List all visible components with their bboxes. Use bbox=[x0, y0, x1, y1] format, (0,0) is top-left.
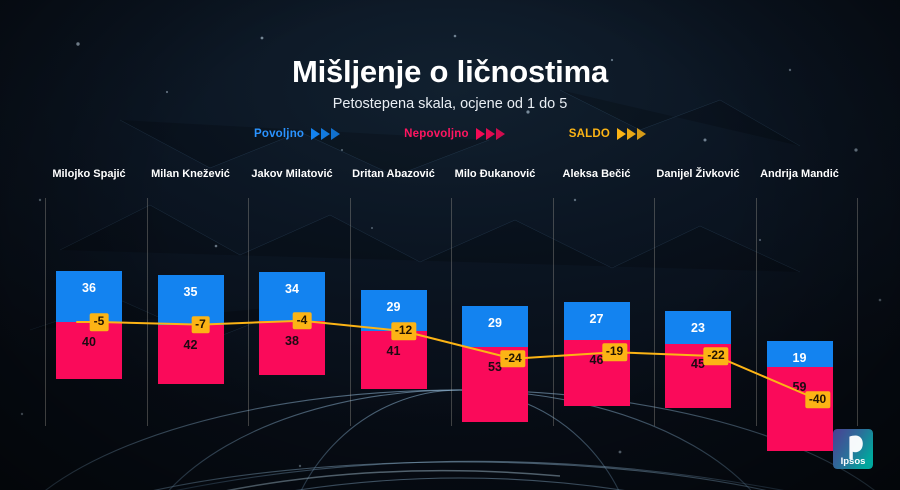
chart-category-label: Jakov Milatović bbox=[251, 168, 332, 180]
bar-segment-unfavourable: 42 bbox=[158, 325, 224, 385]
ipsos-logo-mark: Ipsos bbox=[833, 429, 873, 469]
gridline bbox=[248, 198, 249, 426]
saldo-badge: -40 bbox=[805, 391, 830, 409]
saldo-badge: -12 bbox=[391, 322, 416, 340]
chart-category-label: Andrija Mandić bbox=[760, 168, 839, 180]
bar-value-favourable: 27 bbox=[564, 312, 630, 326]
bar-value-favourable: 19 bbox=[767, 351, 833, 365]
saldo-badge: -4 bbox=[293, 312, 312, 330]
page-title: Mišljenje o ličnostima bbox=[0, 54, 900, 90]
saldo-line-series bbox=[0, 168, 900, 430]
saldo-badge: -22 bbox=[703, 347, 728, 365]
bar-value-favourable: 36 bbox=[56, 281, 122, 295]
bar-value-favourable: 35 bbox=[158, 285, 224, 299]
chart-category-label: Milojko Spajić bbox=[52, 168, 125, 180]
legend-label-povoljno: Povoljno bbox=[254, 128, 304, 140]
bar-value-favourable: 34 bbox=[259, 282, 325, 296]
chart-category-label: Milo Đukanović bbox=[455, 168, 536, 180]
gridline bbox=[857, 198, 858, 426]
bar-value-unfavourable: 38 bbox=[259, 334, 325, 348]
saldo-badge: -19 bbox=[602, 343, 627, 361]
chart-category-label: Milan Knežević bbox=[151, 168, 230, 180]
bar-value-unfavourable: 40 bbox=[56, 335, 122, 349]
gridline bbox=[45, 198, 46, 426]
bar-segment-unfavourable: 59 bbox=[767, 367, 833, 451]
saldo-badge: -5 bbox=[90, 313, 109, 331]
svg-text:Ipsos: Ipsos bbox=[841, 456, 866, 467]
chart-category-label: Aleksa Bečić bbox=[563, 168, 631, 180]
bar-segment-favourable: 27 bbox=[564, 302, 630, 340]
bar-value-unfavourable: 42 bbox=[158, 338, 224, 352]
bar-value-favourable: 29 bbox=[361, 300, 427, 314]
gridline bbox=[147, 198, 148, 426]
gridline bbox=[553, 198, 554, 426]
bar-segment-favourable: 29 bbox=[462, 306, 528, 347]
chart-category-label: Danijel Živković bbox=[656, 168, 739, 180]
triple-arrow-right-icon bbox=[617, 128, 646, 140]
gridline bbox=[756, 198, 757, 426]
page-subtitle: Petostepena skala, ocjene od 1 do 5 bbox=[0, 96, 900, 112]
infographic-canvas: Mišljenje o ličnostima Petostepena skala… bbox=[0, 0, 900, 490]
chart-category-label: Dritan Abazović bbox=[352, 168, 435, 180]
saldo-badge: -7 bbox=[191, 316, 210, 334]
legend-item-saldo: SALDO bbox=[569, 128, 646, 140]
bar-value-favourable: 23 bbox=[665, 321, 731, 335]
triple-arrow-right-icon bbox=[476, 128, 505, 140]
bar-value-favourable: 29 bbox=[462, 316, 528, 330]
bar-value-unfavourable: 41 bbox=[361, 344, 427, 358]
saldo-badge: -24 bbox=[500, 350, 525, 368]
legend-label-nepovoljno: Nepovoljno bbox=[404, 128, 469, 140]
gridline bbox=[654, 198, 655, 426]
bar-segment-favourable: 23 bbox=[665, 311, 731, 344]
gridline bbox=[350, 198, 351, 426]
gridline bbox=[451, 198, 452, 426]
stacked-bar-chart: Milojko SpajićMilan KneževićJakov Milato… bbox=[0, 168, 900, 430]
legend: Povoljno Nepovoljno SALDO bbox=[0, 128, 900, 140]
ipsos-logo: Ipsos bbox=[833, 429, 873, 469]
legend-item-nepovoljno: Nepovoljno bbox=[404, 128, 505, 140]
bar-segment-favourable: 19 bbox=[767, 341, 833, 368]
bar-segment-unfavourable: 40 bbox=[56, 322, 122, 379]
legend-label-saldo: SALDO bbox=[569, 128, 610, 140]
legend-item-povoljno: Povoljno bbox=[254, 128, 340, 140]
triple-arrow-right-icon bbox=[311, 128, 340, 140]
